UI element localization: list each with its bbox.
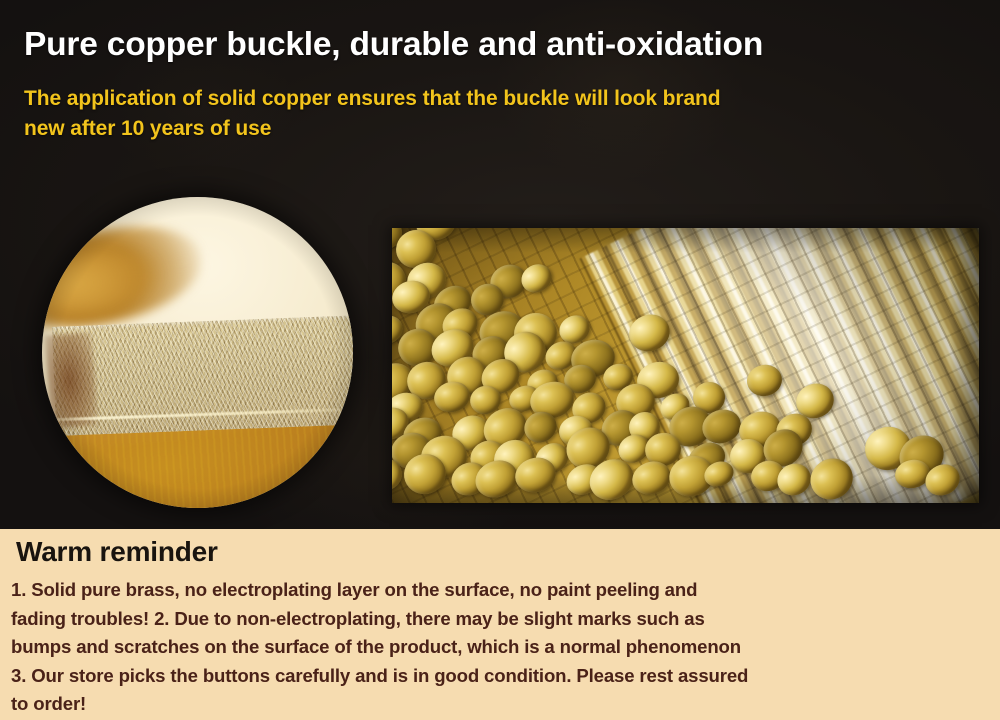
hero-banner: Pure copper buckle, durable and anti-oxi… (0, 0, 1000, 529)
reminder-line: fading troubles! 2. Due to non-electropl… (11, 605, 911, 634)
warm-reminder-body: 1. Solid pure brass, no electroplating l… (11, 576, 911, 719)
page-subtitle: The application of solid copper ensures … (24, 84, 924, 144)
reminder-line: bumps and scratches on the surface of th… (11, 633, 911, 662)
rod-end-face (624, 309, 674, 357)
rod-end-face (517, 259, 557, 297)
photo-vignette (42, 197, 353, 508)
subtitle-line-2: new after 10 years of use (24, 114, 924, 144)
reminder-line: 3. Our store picks the buttons carefully… (11, 662, 911, 691)
reminder-line: 1. Solid pure brass, no electroplating l… (11, 576, 911, 605)
rod-end-faces (392, 228, 979, 503)
warm-reminder-panel: Warm reminder 1. Solid pure brass, no el… (0, 529, 1000, 720)
rod-end-face (744, 362, 784, 400)
page-title: Pure copper buckle, durable and anti-oxi… (24, 26, 763, 64)
subtitle-line-1: The application of solid copper ensures … (24, 87, 721, 110)
brass-rod-bundle-image (392, 228, 979, 503)
rod-end-face (803, 450, 861, 503)
cut-brass-cross-section-macro-image (42, 197, 353, 508)
reminder-line: to order! (11, 690, 911, 719)
warm-reminder-title: Warm reminder (16, 536, 218, 568)
